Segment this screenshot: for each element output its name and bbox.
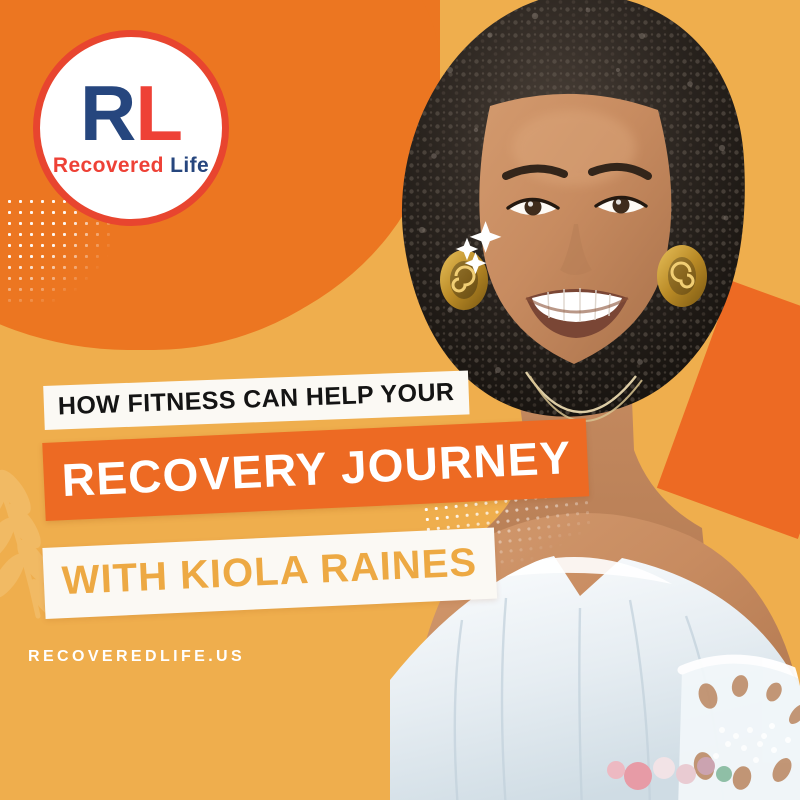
- brand-logo-badge[interactable]: RL Recovered Life: [33, 30, 229, 226]
- sparkle-icon-group: [455, 215, 525, 295]
- logo-word-life: Life: [164, 154, 209, 177]
- logo-letter-r: R: [80, 69, 135, 157]
- logo-word-recovered: Recovered: [53, 154, 164, 177]
- podcast-episode-poster: RL Recovered Life HOW FITNESS CAN HELP Y…: [0, 0, 800, 800]
- logo-letter-l: L: [135, 69, 182, 157]
- logo-monogram: RL: [80, 78, 182, 150]
- logo-wordmark: Recovered Life: [53, 154, 209, 178]
- website-url[interactable]: RECOVEREDLIFE.US: [28, 648, 245, 666]
